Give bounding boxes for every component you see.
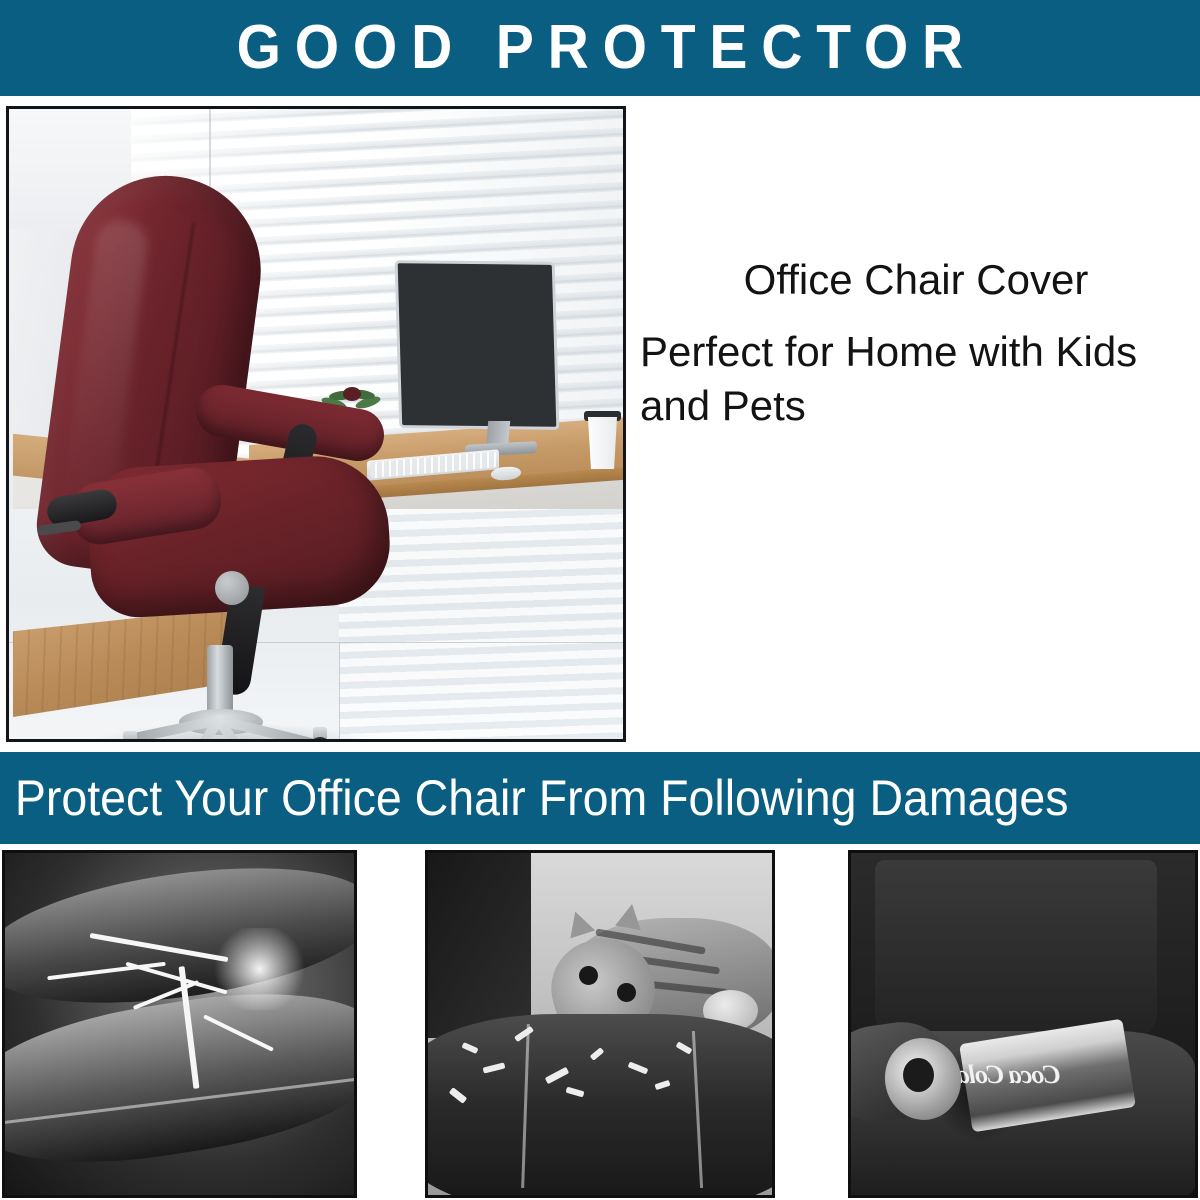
dark-furniture-edge xyxy=(428,853,531,1038)
product-infographic: GOOD PROTECTOR xyxy=(0,0,1200,1200)
chair-backrest xyxy=(875,860,1157,1038)
light-glare xyxy=(207,928,312,1010)
chair-tilt-knob xyxy=(215,571,249,605)
product-tagline: Perfect for Home with Kids and Pets xyxy=(640,325,1192,434)
page-title: GOOD PROTECTOR xyxy=(223,17,977,79)
product-name: Office Chair Cover xyxy=(640,255,1192,305)
damages-banner-title: Protect Your Office Chair From Following… xyxy=(0,773,1068,823)
cat-eye xyxy=(617,983,636,1002)
damage-photo-cracked-leather xyxy=(2,850,357,1198)
chair-caster-stem xyxy=(123,731,137,742)
top-banner: GOOD PROTECTOR xyxy=(0,0,1200,96)
damage-photo-drink-spill: Coca Cola xyxy=(848,850,1198,1198)
cat-ear xyxy=(615,902,645,930)
office-chair xyxy=(27,175,427,742)
damages-banner: Protect Your Office Chair From Following… xyxy=(0,752,1200,844)
cup-lid-opening xyxy=(903,1058,934,1092)
chair-caster xyxy=(115,741,137,742)
leather-sofa-arm xyxy=(425,1014,775,1198)
office-scene xyxy=(9,109,623,739)
coffee-cup xyxy=(586,417,619,469)
hero-product-photo xyxy=(6,106,626,742)
damage-photo-cat-scratches xyxy=(425,850,775,1198)
copy-block: Office Chair Cover Perfect for Home with… xyxy=(640,255,1192,434)
